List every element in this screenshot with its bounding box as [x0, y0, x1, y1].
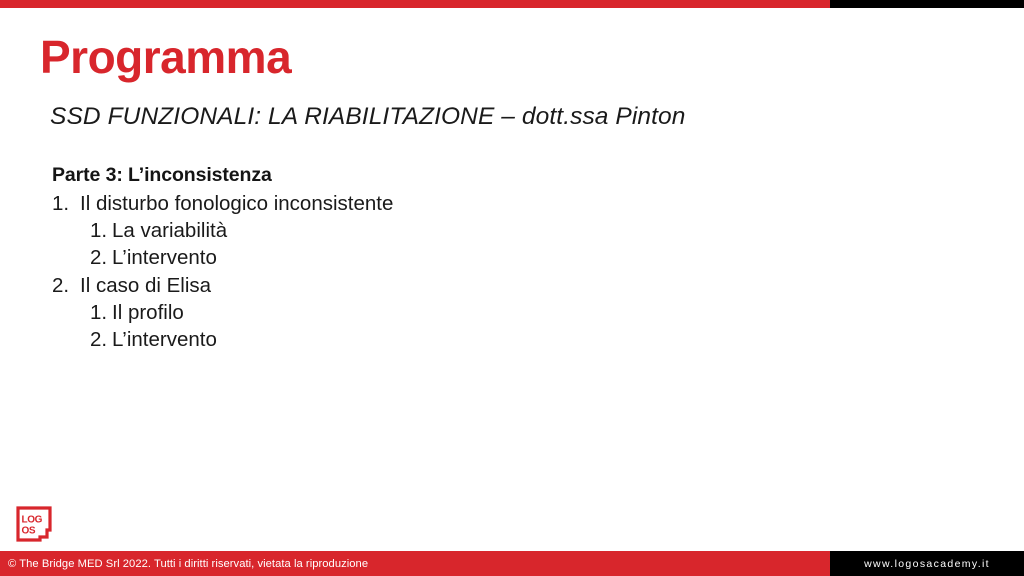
outline-item-1-1: 1. La variabilità [90, 217, 752, 244]
outline-item-2: 2. Il caso di Elisa [52, 272, 752, 299]
footer-website-area: www.logosacademy.it [830, 551, 1024, 576]
slide-title: Programma [40, 33, 291, 83]
part-heading: Parte 3: L’inconsistenza [52, 163, 752, 187]
top-bar [0, 0, 1024, 8]
outline-item-2-label: Il caso di Elisa [80, 272, 211, 299]
footer-copyright-text: © The Bridge MED Srl 2022. Tutti i dirit… [0, 558, 368, 570]
outline-item-1-1-label: La variabilità [112, 217, 227, 244]
outline-item-2-2: 2. L’intervento [90, 326, 752, 353]
slide-subtitle: SSD FUNZIONALI: LA RIABILITAZIONE – dott… [50, 103, 686, 131]
outline-block: Parte 3: L’inconsistenza 1. Il disturbo … [52, 163, 752, 353]
outline-item-1-2-number: 2. [90, 244, 112, 271]
outline-item-2-2-number: 2. [90, 326, 112, 353]
footer-copyright-area: © The Bridge MED Srl 2022. Tutti i dirit… [0, 551, 830, 576]
outline-item-2-number: 2. [52, 272, 80, 299]
outline-item-2-1-label: Il profilo [112, 299, 184, 326]
footer-bar: © The Bridge MED Srl 2022. Tutti i dirit… [0, 551, 1024, 576]
top-bar-black-segment [830, 0, 1024, 8]
slide: Programma SSD FUNZIONALI: LA RIABILITAZI… [0, 0, 1024, 576]
top-bar-red-segment [0, 0, 830, 8]
outline-item-1: 1. Il disturbo fonologico inconsistente [52, 190, 752, 217]
footer-website-text: www.logosacademy.it [864, 558, 990, 570]
outline-item-2-1: 1. Il profilo [90, 299, 752, 326]
outline-item-1-2: 2. L’intervento [90, 244, 752, 271]
outline-item-1-2-label: L’intervento [112, 244, 217, 271]
outline-item-1-label: Il disturbo fonologico inconsistente [80, 190, 393, 217]
logo-line-two: OS [22, 526, 36, 537]
logo-line-one: LOG [22, 515, 43, 526]
outline-item-1-1-number: 1. [90, 217, 112, 244]
outline-item-2-2-label: L’intervento [112, 326, 217, 353]
logos-logo-icon: LOG OS [16, 506, 52, 542]
outline-item-1-number: 1. [52, 190, 80, 217]
outline-item-2-1-number: 1. [90, 299, 112, 326]
